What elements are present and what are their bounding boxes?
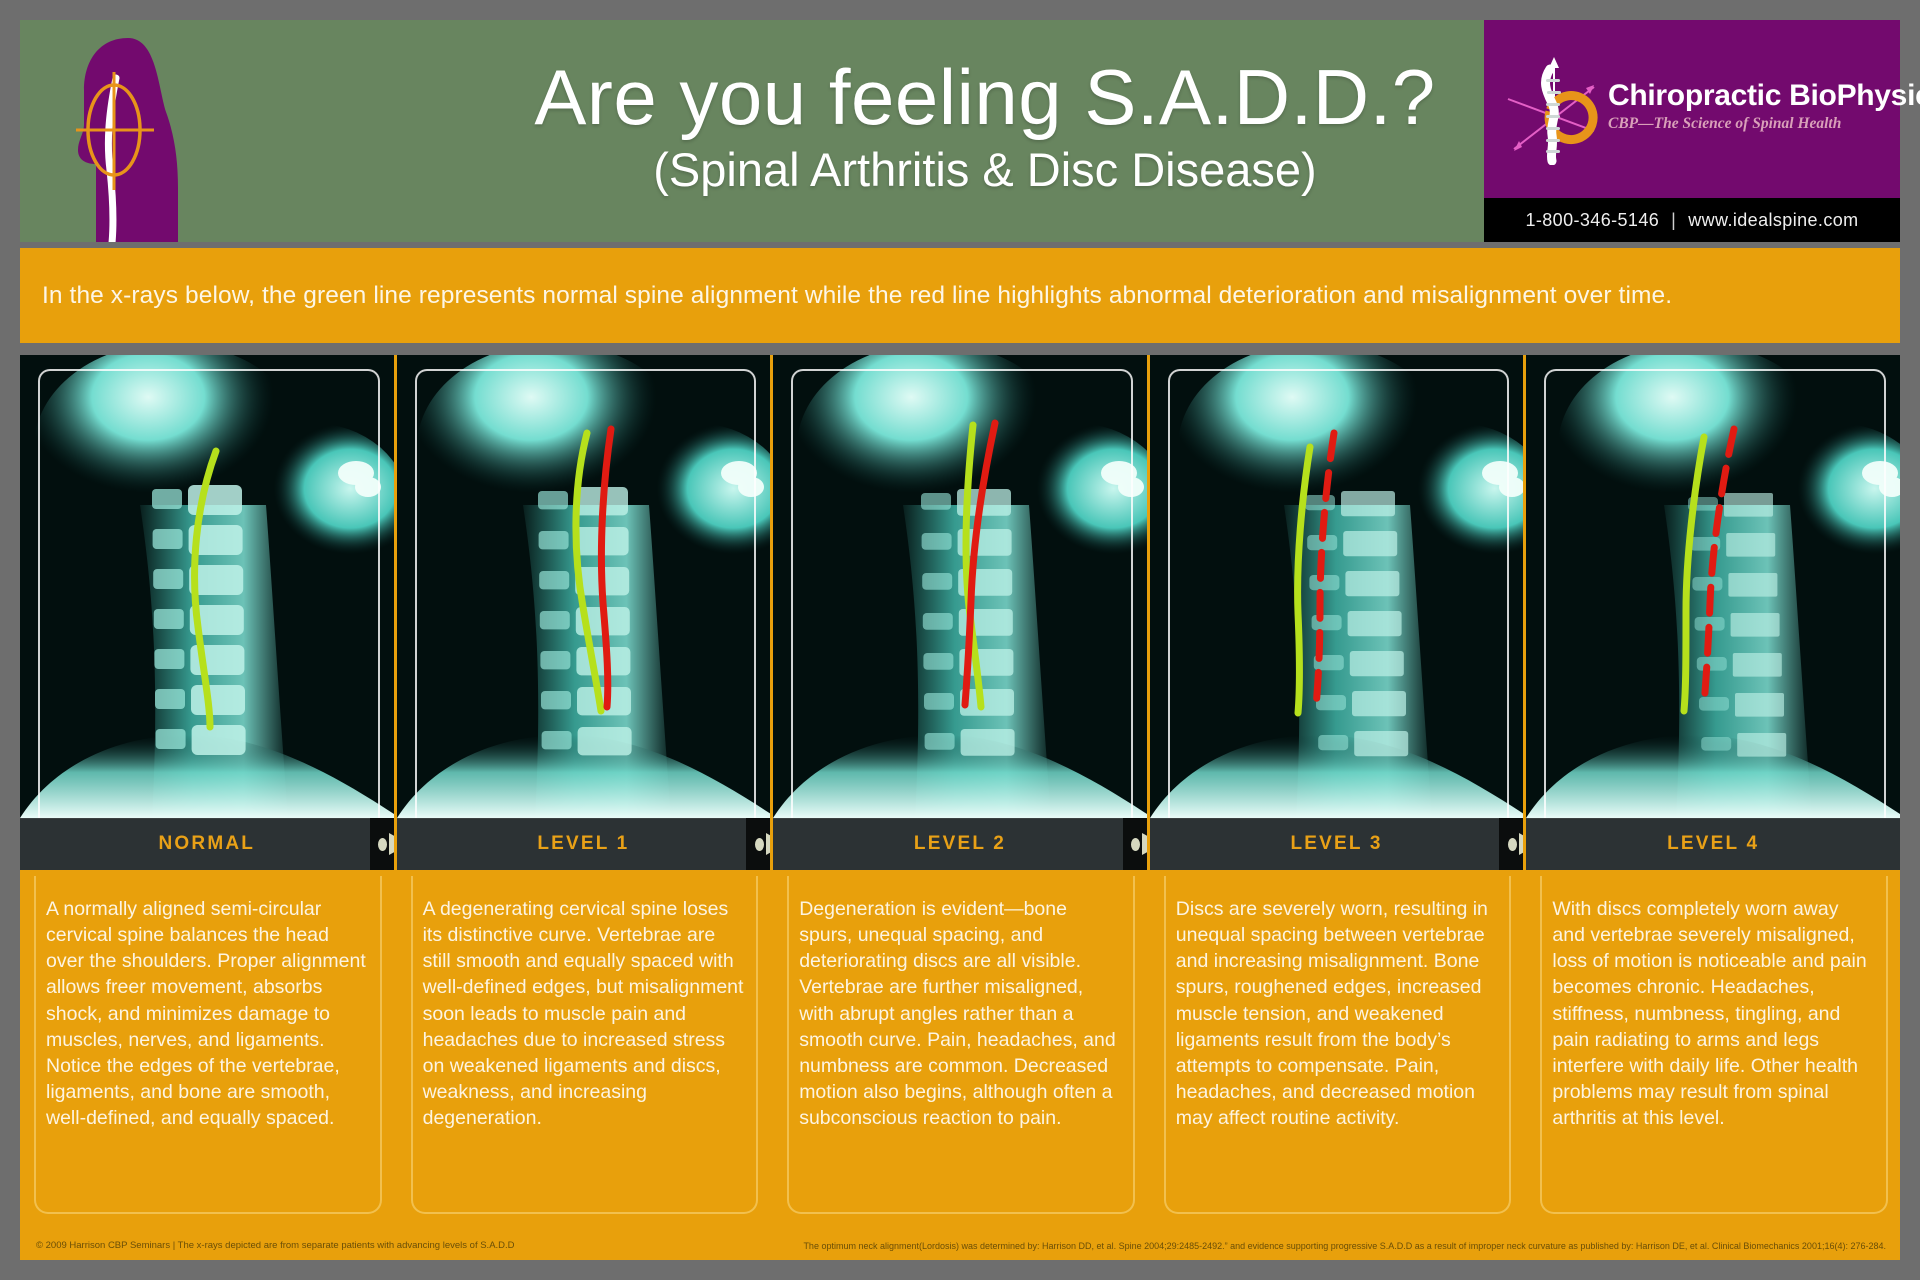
lateral-cervical-spine-xray-level-2 [773, 355, 1147, 818]
phone-number[interactable]: 1-800-346-5146 [1525, 210, 1659, 231]
brand-name: Chiropractic BioPhysics [1608, 81, 1920, 111]
brand-tagline: CBP—The Science of Spinal Health [1608, 115, 1920, 133]
head-silhouette-icon [20, 20, 190, 242]
intro-bar: In the x-rays below, the green line repr… [20, 248, 1900, 343]
caption-text: Degeneration is evident—bone spurs, uneq… [799, 896, 1121, 1131]
panel-label: LEVEL 3 [1291, 833, 1383, 855]
caption-text: A degenerating cervical spine loses its … [423, 896, 745, 1131]
brand-block: Chiropractic BioPhysics CBP—The Science … [1484, 20, 1900, 242]
panel-label: LEVEL 2 [914, 833, 1006, 855]
panel-label: LEVEL 4 [1667, 833, 1759, 855]
caption-text: Discs are severely worn, resulting in un… [1176, 896, 1498, 1131]
xray-panel-3: LEVEL 2Degeneration is evident—bone spur… [773, 355, 1150, 1228]
page-subtitle: (Spinal Arthritis & Disc Disease) [653, 144, 1316, 196]
progression-arrow-icon [370, 818, 397, 870]
contact-separator: | [1671, 210, 1676, 231]
panel-caption: Discs are severely worn, resulting in un… [1150, 870, 1524, 1228]
brand-text: Chiropractic BioPhysics CBP—The Science … [1608, 81, 1920, 137]
lateral-cervical-spine-xray-normal [20, 355, 394, 818]
xray-panel-1: NORMALA normally aligned semi-circular c… [20, 355, 397, 1228]
progression-arrow-icon [1123, 818, 1150, 870]
panel-label: LEVEL 1 [537, 833, 629, 855]
brand-logo-area: Chiropractic BioPhysics CBP—The Science … [1484, 20, 1900, 198]
panel-caption: A degenerating cervical spine loses its … [397, 870, 771, 1228]
intro-text: In the x-rays below, the green line repr… [42, 281, 1672, 310]
lateral-cervical-spine-xray-level-4 [1526, 355, 1900, 818]
panel-caption: With discs completely worn away and vert… [1526, 870, 1900, 1228]
progression-arrow-icon [1499, 818, 1526, 870]
panel-label-bar: LEVEL 3 [1150, 818, 1524, 870]
xray-panel-strip: NORMALA normally aligned semi-circular c… [20, 355, 1900, 1228]
panel-label-bar: LEVEL 2 [773, 818, 1147, 870]
lateral-cervical-spine-xray-level-1 [397, 355, 771, 818]
progression-arrow-icon [746, 818, 773, 870]
panel-caption: Degeneration is evident—bone spurs, uneq… [773, 870, 1147, 1228]
website-link[interactable]: www.idealspine.com [1688, 210, 1858, 231]
copyright-note: © 2009 Harrison CBP Seminars | The x-ray… [36, 1240, 515, 1251]
poster-root: Are you feeling S.A.D.D.? (Spinal Arthri… [0, 0, 1920, 1280]
panel-label-bar: NORMAL [20, 818, 394, 870]
caption-text: With discs completely worn away and vert… [1552, 896, 1874, 1131]
panel-label-bar: LEVEL 4 [1526, 818, 1900, 870]
citation-note: The optimum neck alignment(Lordosis) was… [803, 1241, 1886, 1251]
caption-text: A normally aligned semi-circular cervica… [46, 896, 368, 1131]
xray-panel-5: LEVEL 4With discs completely worn away a… [1526, 355, 1900, 1228]
footer-bar: © 2009 Harrison CBP Seminars | The x-ray… [20, 1228, 1900, 1260]
page-title: Are you feeling S.A.D.D.? [534, 58, 1435, 138]
panel-label-bar: LEVEL 1 [397, 818, 771, 870]
xray-panel-4: LEVEL 3Discs are severely worn, resultin… [1150, 355, 1527, 1228]
chiropractic-biophysics-spine-logo-icon [1506, 57, 1602, 161]
xray-panel-2: LEVEL 1A degenerating cervical spine los… [397, 355, 774, 1228]
panel-caption: A normally aligned semi-circular cervica… [20, 870, 394, 1228]
contact-bar: 1-800-346-5146 | www.idealspine.com [1484, 198, 1900, 242]
panel-label: NORMAL [159, 833, 256, 855]
lateral-cervical-spine-xray-level-3 [1150, 355, 1524, 818]
